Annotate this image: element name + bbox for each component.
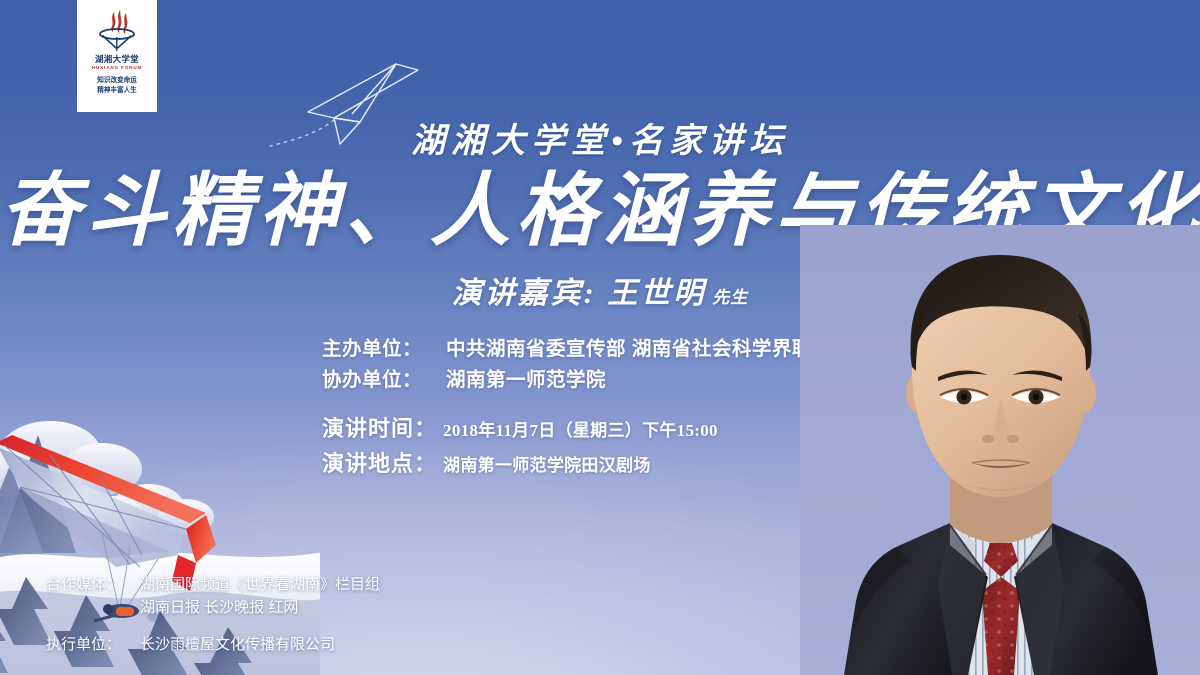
footer-media-row: 合作媒体： 湖南国际频道《世界看湖南》栏目组 (46, 573, 380, 596)
footer-exec-value: 长沙雨檀屋文化传播有限公司 (140, 633, 335, 656)
poster-footer: 合作媒体： 湖南国际频道《世界看湖南》栏目组 湖南日报 长沙晚报 红网 执行单位… (46, 573, 380, 656)
logo-english-name: HUXIANG FORUM (92, 66, 142, 71)
footer-exec-label: 执行单位： (46, 633, 128, 656)
logo-card: 湖湘大学堂 HUXIANG FORUM 知识改变命运 精神丰富人生 (77, 0, 157, 112)
speaker-honorific: 先生 (712, 288, 748, 307)
footer-media-line1: 湖南国际频道《世界看湖南》栏目组 (140, 573, 380, 596)
event-details: 主办单位： 中共湖南省委宣传部 湖南省社会科学界联合会 协办单位： 湖南第一师范… (322, 334, 852, 482)
detail-row-time: 演讲时间： 2018年11月7日（星期三）下午15:00 (322, 412, 852, 447)
detail-row-organizer: 主办单位： 中共湖南省委宣传部 湖南省社会科学界联合会 (322, 334, 852, 365)
footer-exec-row: 执行单位： 长沙雨檀屋文化传播有限公司 (46, 633, 380, 656)
detail-row-co-organizer: 协办单位： 湖南第一师范学院 (322, 365, 852, 396)
detail-value: 湖南第一师范学院 (446, 365, 606, 396)
detail-value: 2018年11月7日（星期三）下午15:00 (443, 414, 718, 447)
event-subtitle: 湖湘大学堂•名家讲坛 (0, 113, 1200, 162)
footer-media-line2: 湖南日报 长沙晚报 红网 (140, 596, 380, 619)
speaker-name: 演讲嘉宾: 王世明 (452, 277, 707, 310)
detail-label: 演讲时间： (322, 412, 437, 445)
speaker-portrait-photo (800, 225, 1200, 675)
detail-label: 协办单位： (322, 365, 428, 396)
detail-row-location: 演讲地点： 湖南第一师范学院田汉剧场 (322, 447, 852, 482)
logo-slogan-line1: 知识改变命运 (97, 77, 137, 84)
logo-chinese-name: 湖湘大学堂 (95, 55, 139, 64)
logo-slogan-line2: 精神丰富人生 (97, 87, 137, 94)
detail-value: 中共湖南省委宣传部 湖南省社会科学界联合会 (446, 334, 852, 365)
detail-label: 演讲地点： (322, 447, 437, 480)
footer-media-label: 合作媒体： (46, 573, 128, 596)
poster-canvas: 湖湘大学堂 HUXIANG FORUM 知识改变命运 精神丰富人生 湖湘大学堂•… (0, 0, 1200, 675)
detail-label: 主办单位： (322, 334, 428, 365)
detail-value: 湖南第一师范学院田汉剧场 (443, 449, 651, 482)
logo-slogan: 知识改变命运 精神丰富人生 (97, 76, 137, 95)
flame-bowl-icon (94, 8, 140, 52)
